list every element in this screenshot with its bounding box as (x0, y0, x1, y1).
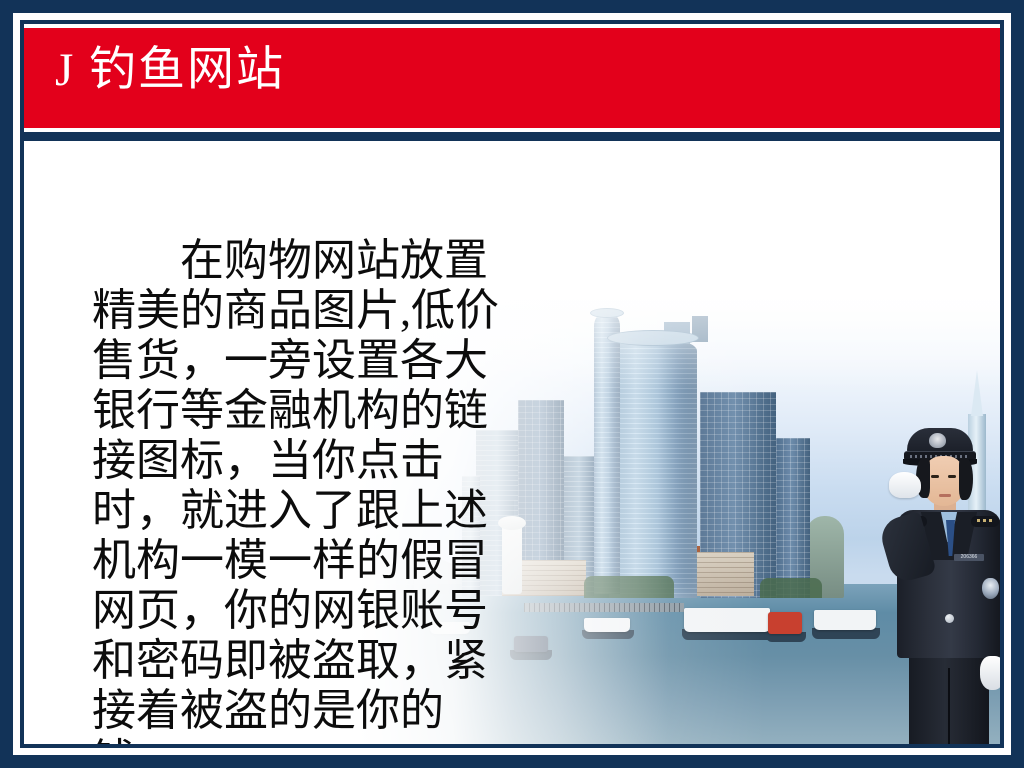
eye-left (931, 475, 939, 478)
hair-right (959, 458, 973, 500)
slide-root: J 钓鱼网站 (0, 0, 1024, 768)
eye-right (948, 475, 956, 478)
page-title: J 钓鱼网站 (55, 40, 285, 100)
police-officer-figure: 206366 (879, 428, 1000, 744)
jacket-button (945, 614, 954, 623)
background-photo: 206366 在购物网站放置精美的商品图片,低价售货，一旁设置各大银行等金融机构… (24, 141, 1000, 744)
white-glove-salute (889, 472, 921, 498)
title-banner: J 钓鱼网站 (24, 28, 1000, 128)
chest-name-tag: 206366 (954, 554, 984, 561)
arm-badge (982, 578, 999, 599)
mouth (939, 494, 951, 497)
shoulder-board-right (971, 516, 999, 527)
white-glove-resting (980, 656, 1000, 690)
slide-canvas: J 钓鱼网站 (24, 24, 1000, 744)
banner-underline (24, 132, 1000, 141)
body-paragraph: 在购物网站放置精美的商品图片,低价售货，一旁设置各大银行等金融机构的链接图标，当… (92, 236, 512, 744)
police-cap-badge-icon (929, 433, 946, 448)
trouser-seam (948, 668, 950, 744)
title-banner-region: J 钓鱼网站 (24, 24, 1000, 132)
